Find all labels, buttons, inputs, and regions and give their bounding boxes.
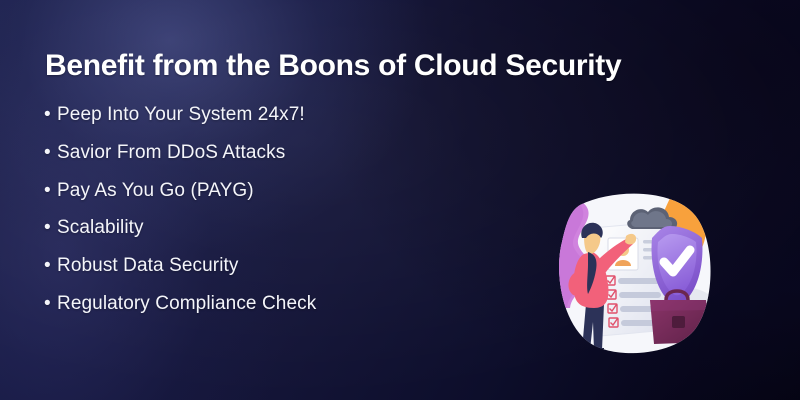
list-item: • Peep Into Your System 24x7! xyxy=(44,104,316,142)
bullet-icon: • xyxy=(44,104,54,126)
list-item: • Robust Data Security xyxy=(44,255,316,293)
list-item: • Regulatory Compliance Check xyxy=(44,293,316,331)
bullet-icon: • xyxy=(44,255,54,277)
list-item-label: Savior From DDoS Attacks xyxy=(57,142,285,164)
list-item: • Pay As You Go (PAYG) xyxy=(44,180,316,218)
list-item-label: Peep Into Your System 24x7! xyxy=(57,104,305,126)
list-item-label: Robust Data Security xyxy=(57,255,239,277)
list-item-label: Regulatory Compliance Check xyxy=(57,293,316,315)
list-item: • Savior From DDoS Attacks xyxy=(44,142,316,180)
cloud-security-banner: Benefit from the Boons of Cloud Security… xyxy=(0,0,800,400)
bullet-icon: • xyxy=(44,217,54,239)
bullet-icon: • xyxy=(44,142,54,164)
list-item-label: Scalability xyxy=(57,217,144,239)
list-item-label: Pay As You Go (PAYG) xyxy=(57,180,254,202)
benefits-list: • Peep Into Your System 24x7! • Savior F… xyxy=(44,104,316,331)
page-title: Benefit from the Boons of Cloud Security xyxy=(45,46,621,86)
bullet-icon: • xyxy=(44,180,54,202)
list-item: • Scalability xyxy=(44,217,316,255)
bullet-icon: • xyxy=(44,293,54,315)
cloud-security-illustration xyxy=(520,180,750,370)
